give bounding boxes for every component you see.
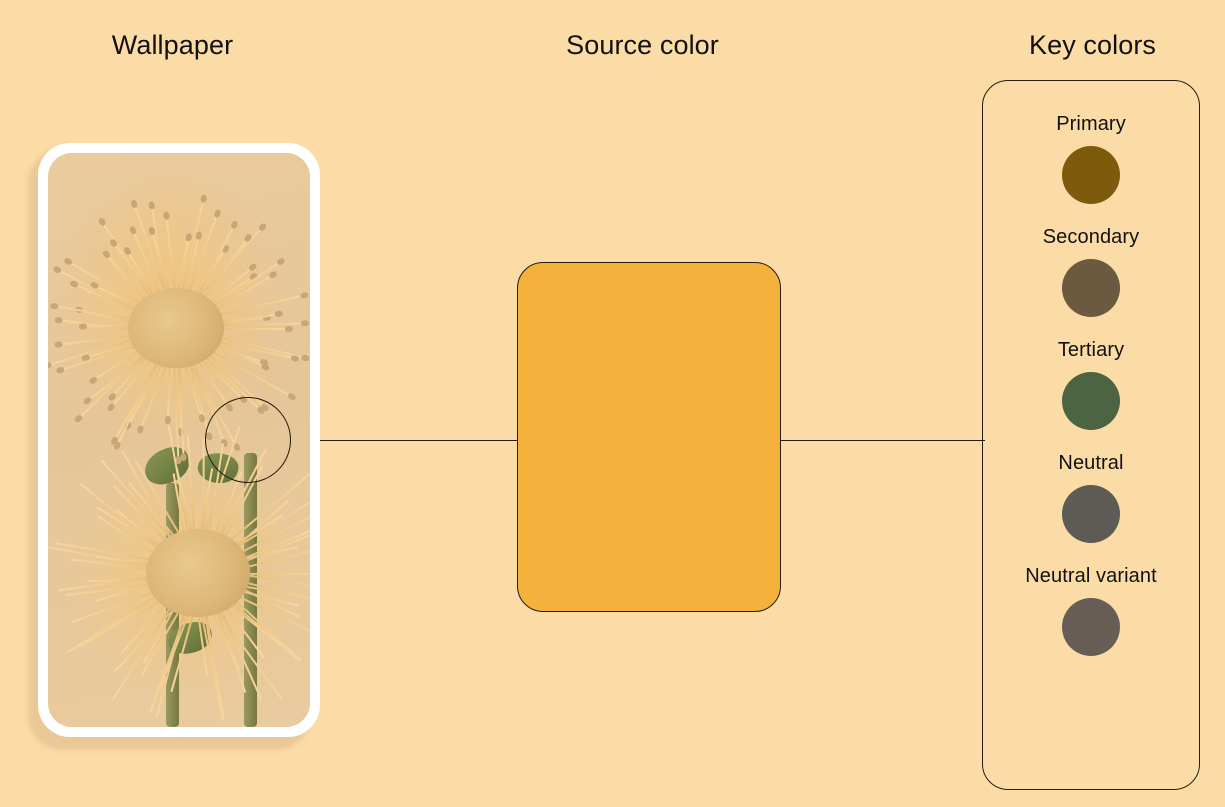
key-color-label: Tertiary [1058,339,1124,362]
key-color-item-primary[interactable]: Primary [983,113,1199,204]
connector-line-source-to-key-colors [781,440,985,441]
source-color-swatch-card[interactable] [517,262,781,612]
key-color-swatch[interactable] [1062,146,1120,204]
key-color-item-neutral-variant[interactable]: Neutral variant [983,565,1199,656]
key-color-swatch[interactable] [1062,372,1120,430]
key-color-label: Secondary [1043,226,1140,249]
key-color-swatch[interactable] [1062,598,1120,656]
key-color-swatch[interactable] [1062,485,1120,543]
connector-line-wallpaper-to-source [286,440,519,441]
key-colors-column-heading: Key colors [960,30,1225,61]
key-color-item-secondary[interactable]: Secondary [983,226,1199,317]
key-color-item-neutral[interactable]: Neutral [983,452,1199,543]
key-color-label: Neutral [1058,452,1123,475]
key-color-swatch[interactable] [1062,259,1120,317]
key-color-label: Primary [1056,113,1126,136]
key-color-item-tertiary[interactable]: Tertiary [983,339,1199,430]
wallpaper-column-heading: Wallpaper [0,30,345,61]
wallpaper-flower-core [128,288,224,369]
source-color-column-heading: Source color [430,30,855,61]
key-color-label: Neutral variant [1025,565,1157,588]
key-colors-panel: Primary Secondary Tertiary Neutral Neutr… [982,80,1200,790]
wallpaper-petal [167,359,172,421]
color-sample-circle-icon [205,397,291,483]
wallpaper-flower-core [146,529,250,616]
diagram-stage: Wallpaper Source color Key colors Primar… [0,0,1225,807]
